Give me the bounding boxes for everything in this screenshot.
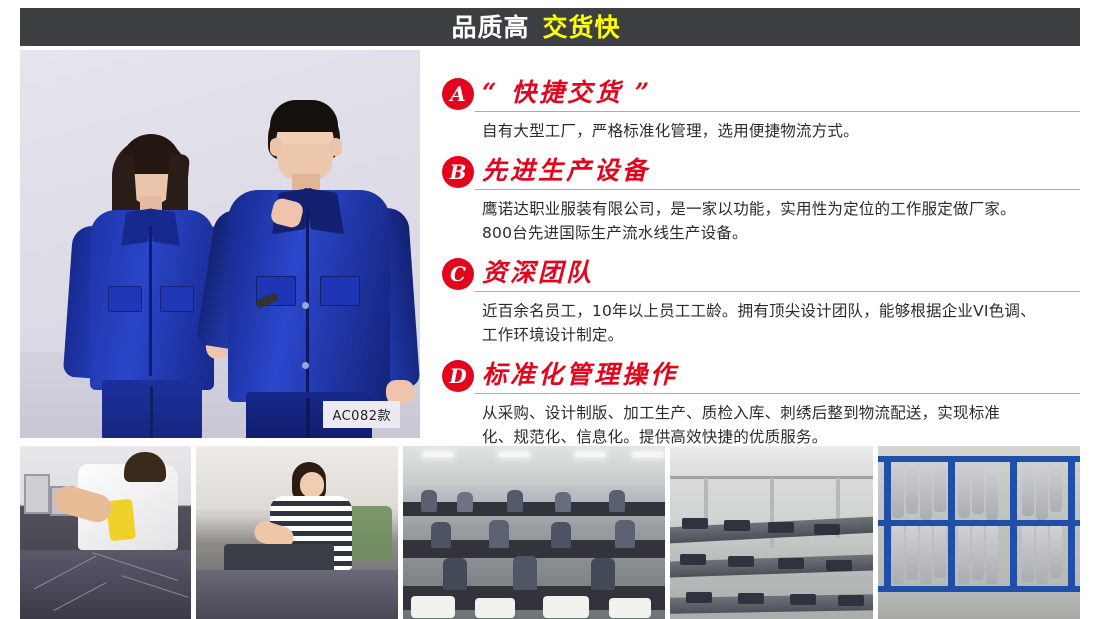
- feature-d-divider: [475, 393, 1080, 394]
- feature-b-line-2: 800台先进国际生产流水线生产设备。: [482, 221, 1080, 245]
- gallery-thumb-1: [20, 446, 191, 619]
- feature-b-title: 先进生产设备: [482, 154, 650, 188]
- feature-a-divider: [475, 111, 1080, 112]
- feature-c-header: C 资深团队: [442, 256, 1080, 296]
- feature-item-b: B 先进生产设备 鹰诺达职业服装有限公司，是一家以功能，实用性为定位的工作服定做…: [442, 154, 1080, 245]
- feature-c-badge-icon: C: [442, 258, 474, 290]
- header-bar: 品质高 交货快: [20, 8, 1080, 46]
- feature-d-badge-icon: D: [442, 360, 474, 392]
- product-code-label: AC082款: [323, 401, 400, 428]
- gallery-strip: [20, 446, 1080, 619]
- gallery-thumb-4: [670, 446, 873, 619]
- page-title: 品质高 交货快: [451, 15, 620, 40]
- gallery-thumb-5: [878, 446, 1080, 619]
- feature-a-body: 自有大型工厂，严格标准化管理，选用便捷物流方式。: [482, 119, 1080, 143]
- page-title-accent: 交货快: [543, 15, 621, 40]
- feature-item-c: C 资深团队 近百余名员工，10年以上员工工龄。拥有顶尖设计团队，能够根据企业V…: [442, 256, 1080, 347]
- feature-item-a: A “ 快捷交货 ” 自有大型工厂，严格标准化管理，选用便捷物流方式。: [442, 76, 1080, 143]
- promo-page: 品质高 交货快: [0, 0, 1100, 619]
- feature-b-badge-icon: B: [442, 156, 474, 188]
- gallery-thumb-2: [196, 446, 398, 619]
- feature-c-line-2: 工作环境设计制定。: [482, 323, 1080, 347]
- feature-item-d: D 标准化管理操作 从采购、设计制版、加工生产、质检入库、刺绣后整到物流配送，实…: [442, 358, 1080, 449]
- feature-a-title: “ 快捷交货 ”: [482, 76, 652, 110]
- feature-a-line-1: 自有大型工厂，严格标准化管理，选用便捷物流方式。: [482, 119, 1080, 143]
- feature-d-header: D 标准化管理操作: [442, 358, 1080, 398]
- hero-product-image: AC082款: [20, 50, 420, 438]
- gallery-thumb-3: [403, 446, 665, 619]
- page-title-primary: 品质高: [451, 15, 529, 40]
- feature-a-badge-icon: A: [442, 78, 474, 110]
- feature-c-divider: [475, 291, 1080, 292]
- feature-c-title: 资深团队: [482, 256, 594, 290]
- feature-d-line-1: 从采购、设计制版、加工生产、质检入库、刺绣后整到物流配送，实现标准: [482, 401, 1080, 425]
- feature-d-title: 标准化管理操作: [482, 358, 678, 392]
- feature-c-body: 近百余名员工，10年以上员工工龄。拥有顶尖设计团队，能够根据企业VI色调、 工作…: [482, 299, 1080, 347]
- feature-b-divider: [475, 189, 1080, 190]
- feature-b-body: 鹰诺达职业服装有限公司，是一家以功能，实用性为定位的工作服定做厂家。 800台先…: [482, 197, 1080, 245]
- feature-b-line-1: 鹰诺达职业服装有限公司，是一家以功能，实用性为定位的工作服定做厂家。: [482, 197, 1080, 221]
- feature-c-line-1: 近百余名员工，10年以上员工工龄。拥有顶尖设计团队，能够根据企业VI色调、: [482, 299, 1080, 323]
- feature-list: A “ 快捷交货 ” 自有大型工厂，严格标准化管理，选用便捷物流方式。 B 先进…: [442, 76, 1080, 438]
- feature-a-header: A “ 快捷交货 ”: [442, 76, 1080, 116]
- feature-b-header: B 先进生产设备: [442, 154, 1080, 194]
- feature-d-body: 从采购、设计制版、加工生产、质检入库、刺绣后整到物流配送，实现标准 化、规范化、…: [482, 401, 1080, 449]
